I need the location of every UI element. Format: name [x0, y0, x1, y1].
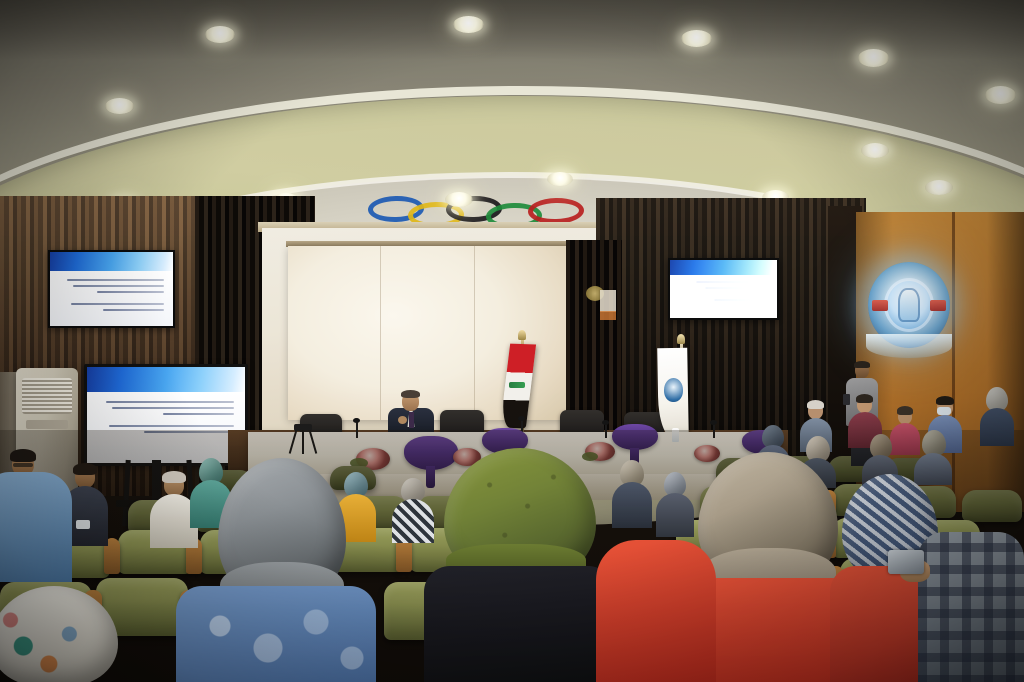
ceiling-downlight	[681, 30, 712, 47]
table-microphone-head	[602, 420, 609, 425]
table-microphone-stem	[605, 424, 607, 438]
conference-hall-photograph	[0, 0, 1024, 682]
attendee-smartphone	[888, 550, 924, 574]
attendee-mid	[980, 390, 1014, 444]
emblem-ribbon-right	[930, 300, 946, 311]
table-microphone-head	[353, 418, 360, 423]
emblem-ribbon-left	[872, 300, 888, 311]
attendee-torso	[612, 482, 652, 528]
slide-body	[87, 392, 245, 463]
table-microphone-head	[710, 420, 717, 425]
seated-speaker-tie	[409, 412, 414, 428]
attendee-plaid-shirt	[918, 532, 1024, 682]
table-sash-drape	[612, 424, 658, 450]
attendee-blue-floral-hijab	[176, 458, 376, 682]
institution-emblem-core-icon	[898, 288, 920, 322]
ceiling-downlight	[453, 16, 484, 33]
table-microphone-head	[518, 416, 525, 421]
attendee-shoulder-foreground	[596, 540, 716, 682]
slide-header-bar	[670, 260, 777, 275]
right-wall-display[interactable]	[668, 258, 779, 320]
attendee-green-lace-hijab	[424, 448, 614, 682]
slide-header-bar	[50, 252, 173, 271]
seated-speaker-hand-with-microphone	[398, 416, 407, 424]
attendee-plaid-shirt-phone	[918, 506, 1024, 682]
attendee-phone	[76, 520, 90, 529]
ac-unit-control-panel[interactable]	[26, 420, 68, 429]
ceiling-downlight	[105, 98, 134, 114]
flag-finial-icon	[518, 330, 526, 340]
attendee-hair	[807, 400, 824, 409]
attendee-hair	[73, 463, 97, 475]
attendee-white-patterned-hijab-head	[0, 586, 118, 682]
attendee-hair	[936, 396, 954, 405]
door-notice-paper	[600, 290, 616, 312]
ac-unit-grille	[22, 378, 72, 414]
camera-tripod	[292, 428, 314, 452]
slide-body	[50, 271, 173, 326]
attendee-shoulder-foreground	[0, 472, 72, 582]
attendee-torso	[980, 408, 1014, 446]
ceiling-downlight	[445, 192, 473, 207]
attendee-mid	[914, 432, 952, 480]
seated-speaker-hair	[401, 390, 420, 398]
table-microphone-stem	[713, 424, 715, 438]
attendee-hair	[10, 449, 36, 462]
standing-attendee-hair	[854, 361, 870, 368]
attendee-white-patterned-hijab	[0, 586, 118, 682]
slide-body	[670, 275, 777, 318]
slide-header-bar	[87, 367, 245, 392]
attendee-hair	[856, 394, 873, 403]
iraq-flag-inscription	[509, 382, 525, 388]
attendee-mid-left	[612, 462, 652, 522]
wall-panel-seam	[952, 212, 955, 512]
ceiling-downlight	[861, 143, 889, 158]
water-bottle	[672, 428, 679, 442]
foreground-monitor[interactable]	[84, 364, 248, 466]
attendee-green-lace-jacket	[424, 566, 614, 682]
ceiling-downlight	[985, 86, 1016, 104]
attendee-eyeglasses	[13, 463, 33, 467]
left-wall-display[interactable]	[48, 250, 175, 328]
emblem-base-glow	[866, 334, 952, 358]
attendee-face-mask	[937, 407, 951, 415]
flag-finial-icon	[677, 334, 685, 344]
ceiling-downlight	[925, 180, 953, 195]
ceiling-downlight	[205, 26, 235, 43]
attendee-hair	[897, 406, 913, 415]
ceiling-downlight	[858, 49, 889, 67]
table-microphone-stem	[356, 422, 358, 438]
attendee-blue-floral-garment	[176, 586, 376, 682]
institution-flag-badge-icon	[664, 378, 683, 402]
ceiling-downlight	[547, 172, 573, 186]
door-notice-paper-accent	[600, 311, 616, 320]
